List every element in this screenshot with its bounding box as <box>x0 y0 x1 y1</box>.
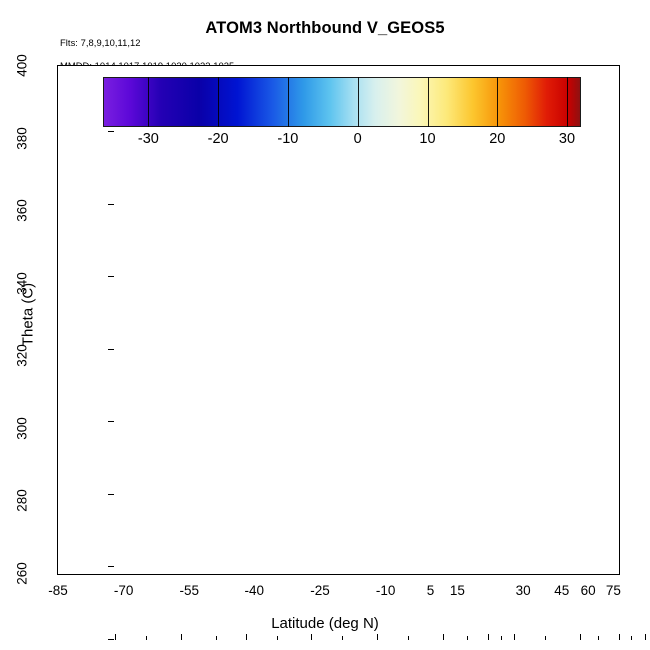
colorbar-tick-label: -10 <box>263 131 313 147</box>
colorbar-tick <box>428 77 429 127</box>
y-tick-label: 300 <box>15 403 30 453</box>
colorbar-tick <box>288 77 289 127</box>
colorbar-tick-label: 20 <box>472 131 522 147</box>
chart-root: ATOM3 Northbound V_GEOS5 Flts: 7,8,9,10,… <box>0 0 650 650</box>
colorbar-tick <box>567 77 568 127</box>
y-tick-label: 400 <box>15 41 30 91</box>
colorbar-gradient <box>104 78 580 126</box>
colorbar <box>103 77 581 127</box>
colorbar-tick <box>497 77 498 127</box>
colorbar-tick-label: -20 <box>193 131 243 147</box>
y-tick-label: 260 <box>15 549 30 599</box>
colorbar-tick-label: -30 <box>123 131 173 147</box>
y-tick-label: 280 <box>15 476 30 526</box>
colorbar-tick-label: 10 <box>403 131 453 147</box>
colorbar-tick <box>218 77 219 127</box>
x-axis-label: Latitude (deg N) <box>0 615 650 632</box>
colorbar-tick <box>148 77 149 127</box>
colorbar-tick-label: 0 <box>333 131 383 147</box>
colorbar-tick-label: 30 <box>542 131 592 147</box>
colorbar-tick <box>358 77 359 127</box>
y-axis-label: Theta (C) <box>20 225 37 405</box>
y-tick-label: 380 <box>15 113 30 163</box>
